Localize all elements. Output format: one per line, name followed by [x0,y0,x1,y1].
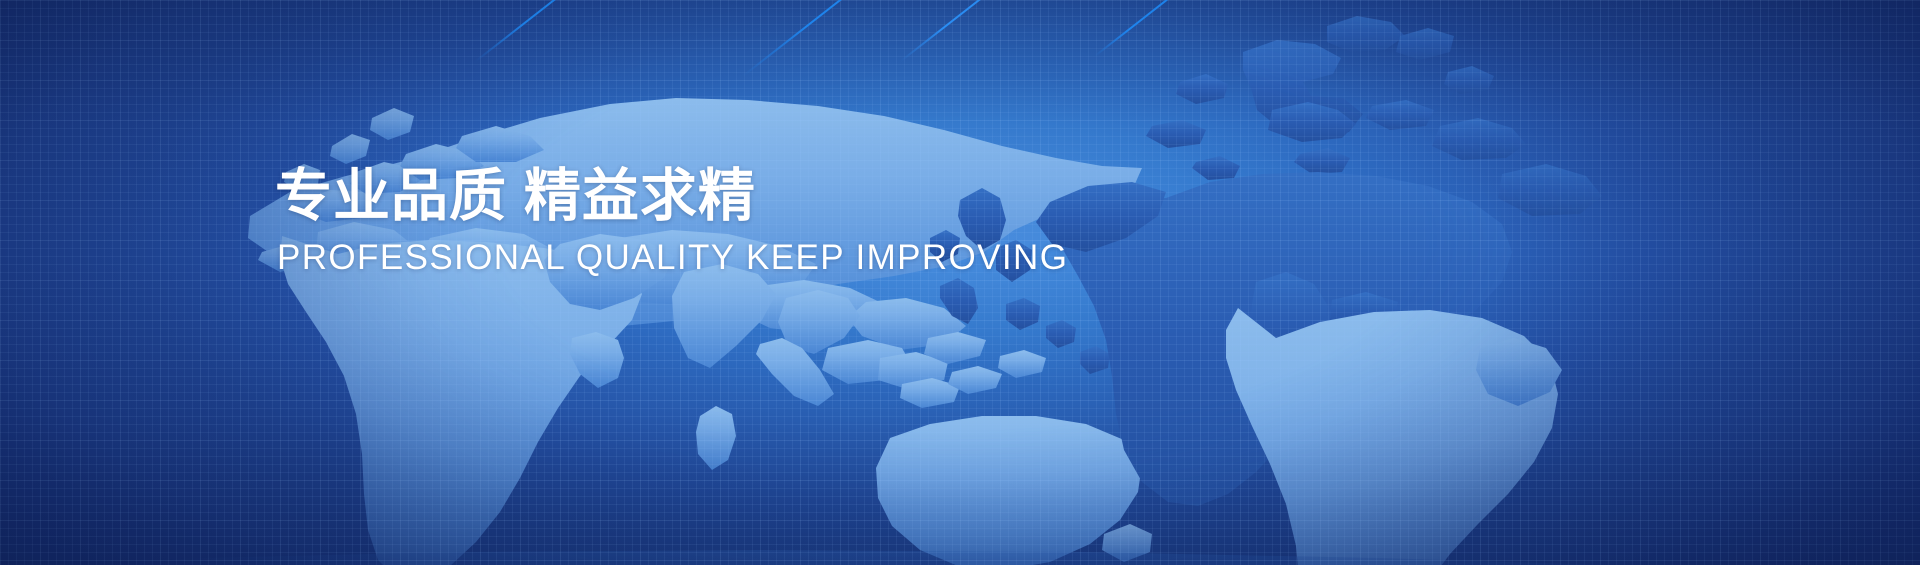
edge-vignette [0,0,1920,565]
banner-headline: 专业品质 精益求精 [275,168,1068,225]
banner-text-block: 专业品质 精益求精 PROFESSIONAL QUALITY KEEP IMPR… [275,168,1068,277]
hero-banner: 专业品质 精益求精 PROFESSIONAL QUALITY KEEP IMPR… [0,0,1920,565]
banner-subtitle: PROFESSIONAL QUALITY KEEP IMPROVING [277,240,1068,277]
